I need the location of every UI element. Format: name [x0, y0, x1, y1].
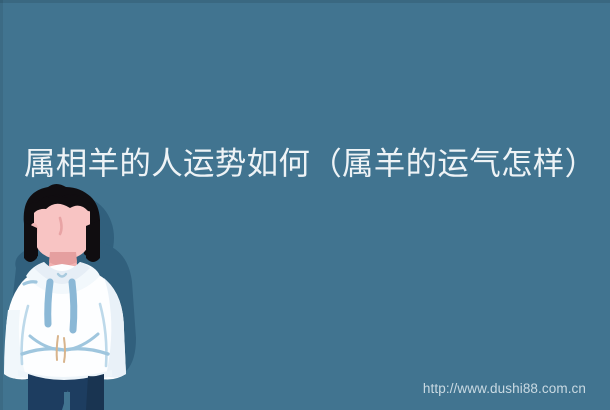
top-edge-shade [0, 0, 610, 3]
article-cover-banner: 属相羊的人运势如何（属羊的运气怎样） http://www.dushi88.co… [0, 0, 610, 410]
site-watermark-url: http://www.dushi88.com.cn [423, 381, 586, 397]
page-title: 属相羊的人运势如何（属羊的运气怎样） [24, 143, 596, 183]
person-illustration [0, 178, 200, 410]
drawstring-left [48, 282, 50, 324]
pants-gap [64, 392, 70, 410]
drawstring-tip-right [64, 338, 65, 362]
pants-shade [86, 374, 104, 410]
nose-mark [60, 218, 62, 234]
drawstring-right [72, 282, 74, 330]
